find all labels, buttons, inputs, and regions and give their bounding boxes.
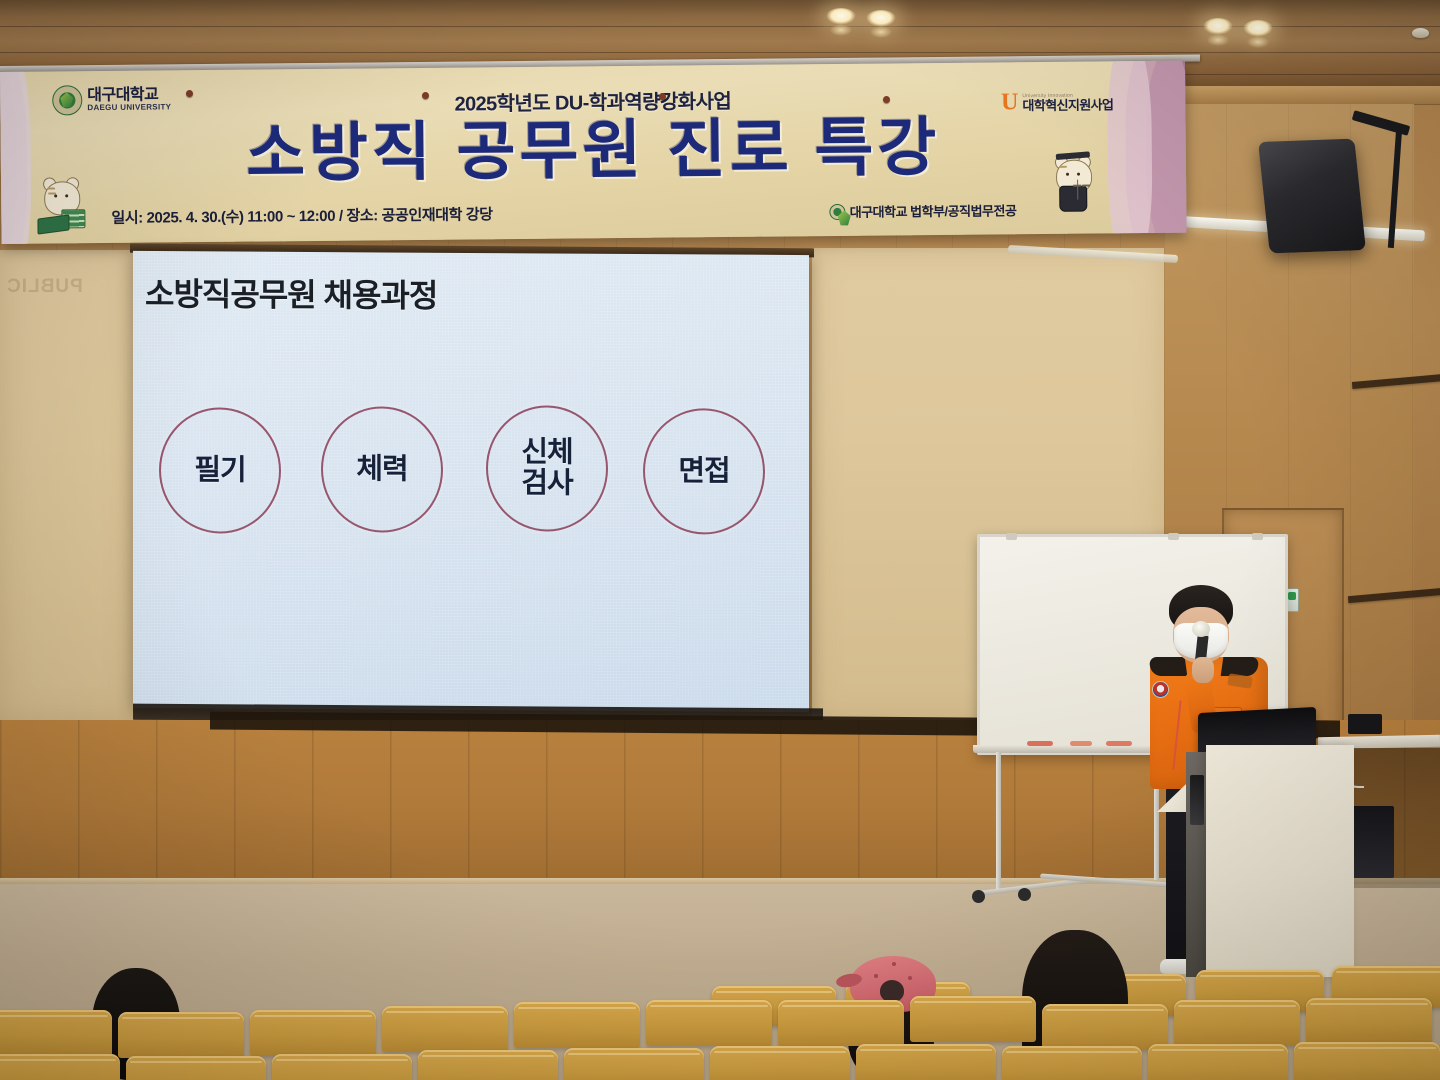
auditorium-seat — [382, 1006, 508, 1052]
auditorium-seat — [710, 1046, 850, 1080]
uniform-patch-icon — [1152, 681, 1169, 698]
process-step-oval: 필기 — [159, 407, 281, 534]
process-step-label: 면접 — [678, 456, 729, 487]
whiteboard-caster-icon — [972, 890, 985, 903]
process-step-oval: 신체 검사 — [486, 405, 608, 532]
dept-shield-icon — [830, 203, 846, 219]
auditorium-seat — [778, 1000, 904, 1046]
banner-schedule: 일시: 2025. 4. 30.(수) 11:00 ~ 12:00 / 장소: … — [111, 203, 492, 228]
ceiling-downlight-icon — [866, 10, 896, 27]
ceiling-downlight-icon — [1203, 18, 1233, 35]
process-step-label: 필기 — [194, 455, 245, 486]
event-banner: 대구대학교 DAEGU UNIVERSITY U University Inno… — [0, 61, 1187, 244]
auditorium-seat — [1306, 998, 1432, 1044]
whiteboard-marker-icon — [1027, 741, 1053, 746]
auditorium-seat — [564, 1048, 704, 1080]
presenter-collar — [1221, 657, 1260, 676]
lectern-podium — [1206, 745, 1354, 977]
auditorium-seat — [418, 1050, 558, 1080]
slide-title: 소방직공무원 채용과정 — [145, 269, 437, 317]
tiger-with-books-icon — [35, 175, 90, 234]
whiteboard-leg — [996, 752, 1001, 890]
process-step-label: 신체 검사 — [521, 437, 572, 499]
banner-host-dept: 대구대학교 법학부/공직법무전공 — [830, 200, 1017, 221]
tiger-graduate-scales-icon — [1047, 153, 1102, 212]
auditorium-seat — [514, 1002, 640, 1048]
process-step-oval: 체력 — [321, 406, 443, 533]
lecture-hall-photo: PUBLIC 대구대학교 DAEGU UNIVERSITY U Universi… — [0, 0, 1440, 1080]
projection-screen: 소방직공무원 채용과정 필기 체력 신체 검사 면접 — [133, 251, 809, 712]
auditorium-seat — [1042, 1004, 1168, 1050]
ceiling-downlight-icon — [826, 8, 856, 25]
dept-label: 대구대학교 법학부/공직법무전공 — [850, 200, 1017, 221]
process-step-label: 체력 — [356, 454, 407, 485]
whiteboard-marker-icon — [1106, 741, 1132, 746]
floor-subwoofer — [1352, 806, 1394, 878]
whiteboard-marker-icon — [1070, 741, 1092, 746]
desk-equipment-box — [1348, 714, 1382, 734]
auditorium-seat — [250, 1010, 376, 1056]
auditorium-seat — [1294, 1042, 1440, 1080]
auditorium-seat — [118, 1012, 244, 1058]
auditorium-seat — [126, 1056, 266, 1080]
auditorium-seat — [1148, 1044, 1288, 1080]
presenter-collar — [1149, 657, 1188, 676]
lectern-control-panel[interactable] — [1190, 775, 1204, 825]
auditorium-seat — [646, 1000, 772, 1046]
smoke-detector-icon — [1412, 28, 1429, 38]
whiteboard-caster-icon — [1018, 888, 1031, 901]
process-step-oval: 면접 — [643, 408, 765, 535]
ceiling-downlight-icon — [1243, 20, 1273, 37]
auditorium-seat — [1002, 1046, 1142, 1080]
auditorium-seat — [272, 1054, 412, 1080]
microphone-icon — [1192, 621, 1210, 637]
auditorium-seat — [0, 1054, 120, 1080]
auditorium-seat — [910, 996, 1036, 1042]
wall-panel-left: PUBLIC — [0, 250, 134, 720]
slide-process-diagram: 필기 체력 신체 검사 면접 — [159, 403, 799, 667]
auditorium-seat — [856, 1044, 996, 1080]
wall-mounted-speaker — [1258, 139, 1366, 254]
wall-panel-ghost-text: PUBLIC — [6, 276, 83, 298]
auditorium-seat — [0, 1010, 112, 1056]
presenter-hand — [1192, 657, 1214, 683]
banner-title: 소방직 공무원 진로 특강 — [0, 107, 1186, 194]
auditorium-seat — [1174, 1000, 1300, 1046]
